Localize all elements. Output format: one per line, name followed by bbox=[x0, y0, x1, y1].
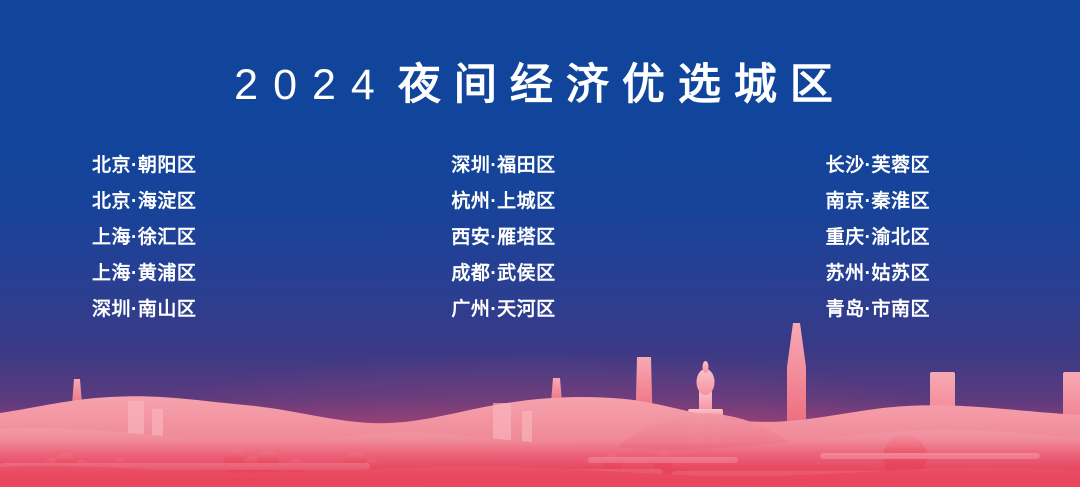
list-item: 西安·雁塔区 bbox=[451, 220, 705, 256]
list-item: 上海·黄浦区 bbox=[92, 256, 346, 292]
list-item: 深圳·福田区 bbox=[451, 148, 705, 184]
city-list: 北京·朝阳区 北京·海淀区 上海·徐汇区 上海·黄浦区 深圳·南山区 深圳·福田… bbox=[0, 148, 1080, 328]
list-item: 北京·海淀区 bbox=[92, 184, 346, 220]
title-year: 2024 bbox=[234, 61, 390, 109]
list-item: 上海·徐汇区 bbox=[92, 220, 346, 256]
domed-building-icon bbox=[688, 361, 723, 418]
skyline-silhouette bbox=[0, 317, 1080, 487]
city-column-2: 深圳·福田区 杭州·上城区 西安·雁塔区 成都·武侯区 广州·天河区 bbox=[346, 148, 705, 328]
city-column-1: 北京·朝阳区 北京·海淀区 上海·徐汇区 上海·黄浦区 深圳·南山区 bbox=[0, 148, 346, 328]
list-item: 重庆·渝北区 bbox=[826, 220, 1080, 256]
poster-root: 2024夜间经济优选城区 北京·朝阳区 北京·海淀区 上海·徐汇区 上海·黄浦区… bbox=[0, 0, 1080, 487]
page-title: 2024夜间经济优选城区 bbox=[0, 58, 1080, 112]
list-item: 长沙·芙蓉区 bbox=[826, 148, 1080, 184]
list-item: 北京·朝阳区 bbox=[92, 148, 346, 184]
list-item: 苏州·姑苏区 bbox=[826, 256, 1080, 292]
list-item: 成都·武侯区 bbox=[451, 256, 705, 292]
city-column-3: 长沙·芙蓉区 南京·秦淮区 重庆·渝北区 苏州·姑苏区 青岛·市南区 bbox=[706, 148, 1080, 328]
list-item: 南京·秦淮区 bbox=[826, 184, 1080, 220]
list-item: 杭州·上城区 bbox=[451, 184, 705, 220]
title-text-cn: 夜间经济优选城区 bbox=[398, 61, 846, 109]
